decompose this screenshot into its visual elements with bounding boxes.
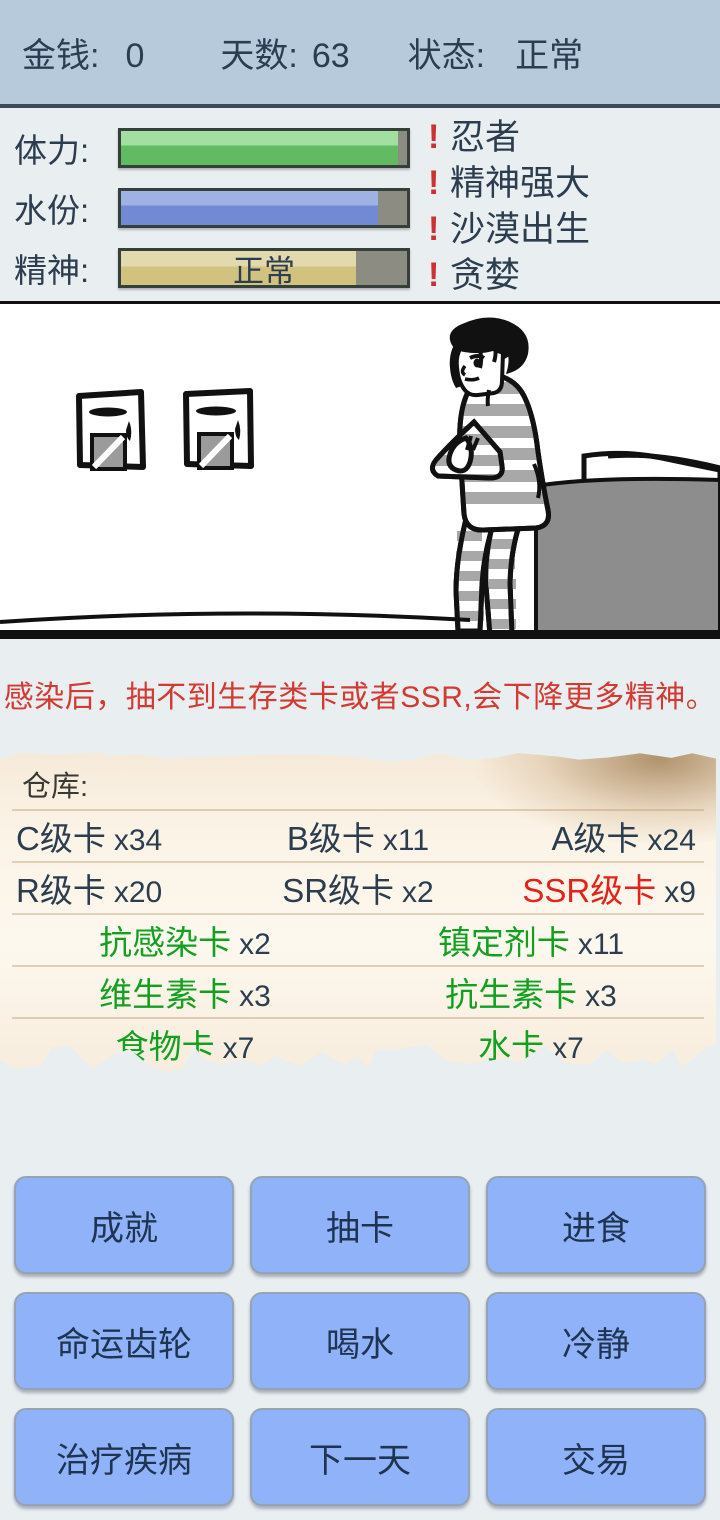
inventory-paper: 仓库: C级卡 x34 B级卡 x11 A级卡 x24 R级卡 x2 bbox=[0, 749, 716, 1074]
money-stat: 金钱: 0 bbox=[22, 28, 144, 77]
stat-row-spirit: 精神: 正常 bbox=[14, 238, 418, 298]
exclamation-icon: ! bbox=[428, 212, 450, 248]
inventory-item: 维生素卡 x3 bbox=[12, 968, 358, 1016]
days-stat: 天数: 63 bbox=[220, 28, 349, 77]
inventory-row: 维生素卡 x3 抗生素卡 x3 bbox=[12, 965, 704, 1017]
inventory-item-name: A级卡 bbox=[552, 812, 640, 860]
inventory-item-name: 抗感染卡 bbox=[99, 916, 231, 964]
action-button-draw-card[interactable]: 抽卡 bbox=[250, 1176, 470, 1274]
event-message: 感染后，抽不到生存类卡或者SSR,会下降更多精神。 bbox=[0, 639, 720, 749]
traits-list: ! 忍者 ! 精神强大 ! 沙漠出生 ! 贪婪 bbox=[418, 118, 720, 293]
stat-bars: 体力: 水份: 精神: 正常 bbox=[0, 118, 418, 293]
inventory-item: 水卡 x7 bbox=[358, 1020, 704, 1068]
action-button-fate-gear[interactable]: 命运齿轮 bbox=[14, 1292, 234, 1390]
inventory-item-name: SSR级卡 bbox=[522, 864, 656, 912]
action-button-next-day[interactable]: 下一天 bbox=[250, 1408, 470, 1506]
health-bar-track bbox=[118, 128, 410, 168]
inventory-item-name: SR级卡 bbox=[282, 864, 394, 912]
health-label: 体力: bbox=[14, 124, 118, 172]
inventory-item: 食物卡 x7 bbox=[12, 1020, 358, 1068]
exclamation-icon: ! bbox=[428, 166, 450, 202]
action-button-eat[interactable]: 进食 bbox=[486, 1176, 706, 1274]
inventory-row: 抗感染卡 x2 镇定剂卡 x11 bbox=[12, 913, 704, 965]
water-bar-text bbox=[121, 191, 407, 225]
inventory-item: A级卡 x24 bbox=[473, 812, 704, 860]
trait-label: 沙漠出生 bbox=[450, 212, 590, 249]
inventory-item: 抗感染卡 x2 bbox=[12, 916, 358, 964]
inventory-row: R级卡 x20 SR级卡 x2 SSR级卡 x9 bbox=[12, 861, 704, 913]
action-button-treat-illness[interactable]: 治疗疾病 bbox=[14, 1408, 234, 1506]
inventory-item-name: C级卡 bbox=[16, 812, 106, 860]
inventory-item-count: x11 bbox=[383, 824, 429, 858]
trait-item: ! 沙漠出生 bbox=[428, 212, 720, 258]
inventory-row: C级卡 x34 B级卡 x11 A级卡 x24 bbox=[12, 809, 704, 861]
action-button-grid: 成就 抽卡 进食 命运齿轮 喝水 冷静 治疗疾病 下一天 交易 bbox=[0, 1176, 720, 1506]
money-label: 金钱: bbox=[22, 28, 99, 77]
trait-item: ! 忍者 bbox=[428, 120, 720, 166]
status-topbar: 金钱: 0 天数: 63 状态: 正常 bbox=[0, 0, 720, 108]
trait-item: ! 精神强大 bbox=[428, 166, 720, 212]
inventory-item-count: x2 bbox=[402, 876, 434, 910]
inventory-panel: 仓库: C级卡 x34 B级卡 x11 A级卡 x24 R级卡 x2 bbox=[0, 749, 720, 1089]
inventory-item-name: 镇定剂卡 bbox=[438, 916, 570, 964]
inventory-item-count: x9 bbox=[664, 876, 696, 910]
inventory-row: 食物卡 x7 水卡 x7 bbox=[12, 1017, 704, 1069]
inventory-item: 抗生素卡 x3 bbox=[358, 968, 704, 1016]
trait-item: ! 贪婪 bbox=[428, 258, 720, 304]
days-value: 63 bbox=[312, 37, 350, 76]
action-button-trade[interactable]: 交易 bbox=[486, 1408, 706, 1506]
exclamation-icon: ! bbox=[428, 258, 450, 294]
inventory-item-name: 抗生素卡 bbox=[445, 968, 577, 1016]
inventory-item-count: x24 bbox=[648, 824, 696, 858]
inventory-item-name: 维生素卡 bbox=[99, 968, 231, 1016]
action-button-calm[interactable]: 冷静 bbox=[486, 1292, 706, 1390]
inventory-item-count: x11 bbox=[578, 928, 624, 962]
inventory-title: 仓库: bbox=[12, 763, 704, 805]
inventory-item: SR级卡 x2 bbox=[243, 864, 474, 912]
inventory-item-count: x20 bbox=[114, 876, 162, 910]
action-button-drink[interactable]: 喝水 bbox=[250, 1292, 470, 1390]
stats-panel: 体力: 水份: 精神: 正常 bbox=[0, 108, 720, 304]
inventory-item-count: x2 bbox=[239, 928, 271, 962]
inventory-item-ssr: SSR级卡 x9 bbox=[473, 864, 704, 912]
spirit-bar-text: 正常 bbox=[121, 251, 407, 285]
game-screen: 金钱: 0 天数: 63 状态: 正常 体力: 水份: bbox=[0, 0, 720, 1520]
inventory-item-count: x3 bbox=[585, 980, 617, 1014]
inventory-item: 镇定剂卡 x11 bbox=[358, 916, 704, 964]
inventory-item-name: B级卡 bbox=[287, 812, 375, 860]
inventory-item-name: 水卡 bbox=[478, 1020, 544, 1068]
spirit-bar-track: 正常 bbox=[118, 248, 410, 288]
exclamation-icon: ! bbox=[428, 120, 450, 156]
trait-label: 贪婪 bbox=[450, 258, 520, 295]
inventory-item-count: x7 bbox=[223, 1032, 255, 1066]
spirit-label: 精神: bbox=[14, 244, 118, 292]
days-label: 天数: bbox=[220, 28, 297, 77]
trait-label: 精神强大 bbox=[450, 166, 590, 203]
action-button-achievements[interactable]: 成就 bbox=[14, 1176, 234, 1274]
water-label: 水份: bbox=[14, 184, 118, 232]
stat-row-health: 体力: bbox=[14, 118, 418, 178]
scene-illustration bbox=[0, 304, 720, 639]
water-bar-track bbox=[118, 188, 410, 228]
health-bar-text bbox=[121, 131, 407, 165]
inventory-item-name: R级卡 bbox=[16, 864, 106, 912]
inventory-item: R级卡 x20 bbox=[12, 864, 243, 912]
stat-row-water: 水份: bbox=[14, 178, 418, 238]
state-stat: 状态: 正常 bbox=[408, 28, 583, 77]
inventory-item-count: x34 bbox=[114, 824, 162, 858]
state-label: 状态: bbox=[408, 28, 485, 77]
inventory-item-name: 食物卡 bbox=[116, 1020, 215, 1068]
inventory-item-count: x7 bbox=[552, 1032, 584, 1066]
inventory-item: B级卡 x11 bbox=[243, 812, 474, 860]
inventory-item: C级卡 x34 bbox=[12, 812, 243, 860]
trait-label: 忍者 bbox=[450, 120, 520, 157]
inventory-item-count: x3 bbox=[239, 980, 271, 1014]
state-value: 正常 bbox=[515, 28, 583, 77]
money-value: 0 bbox=[125, 37, 144, 76]
